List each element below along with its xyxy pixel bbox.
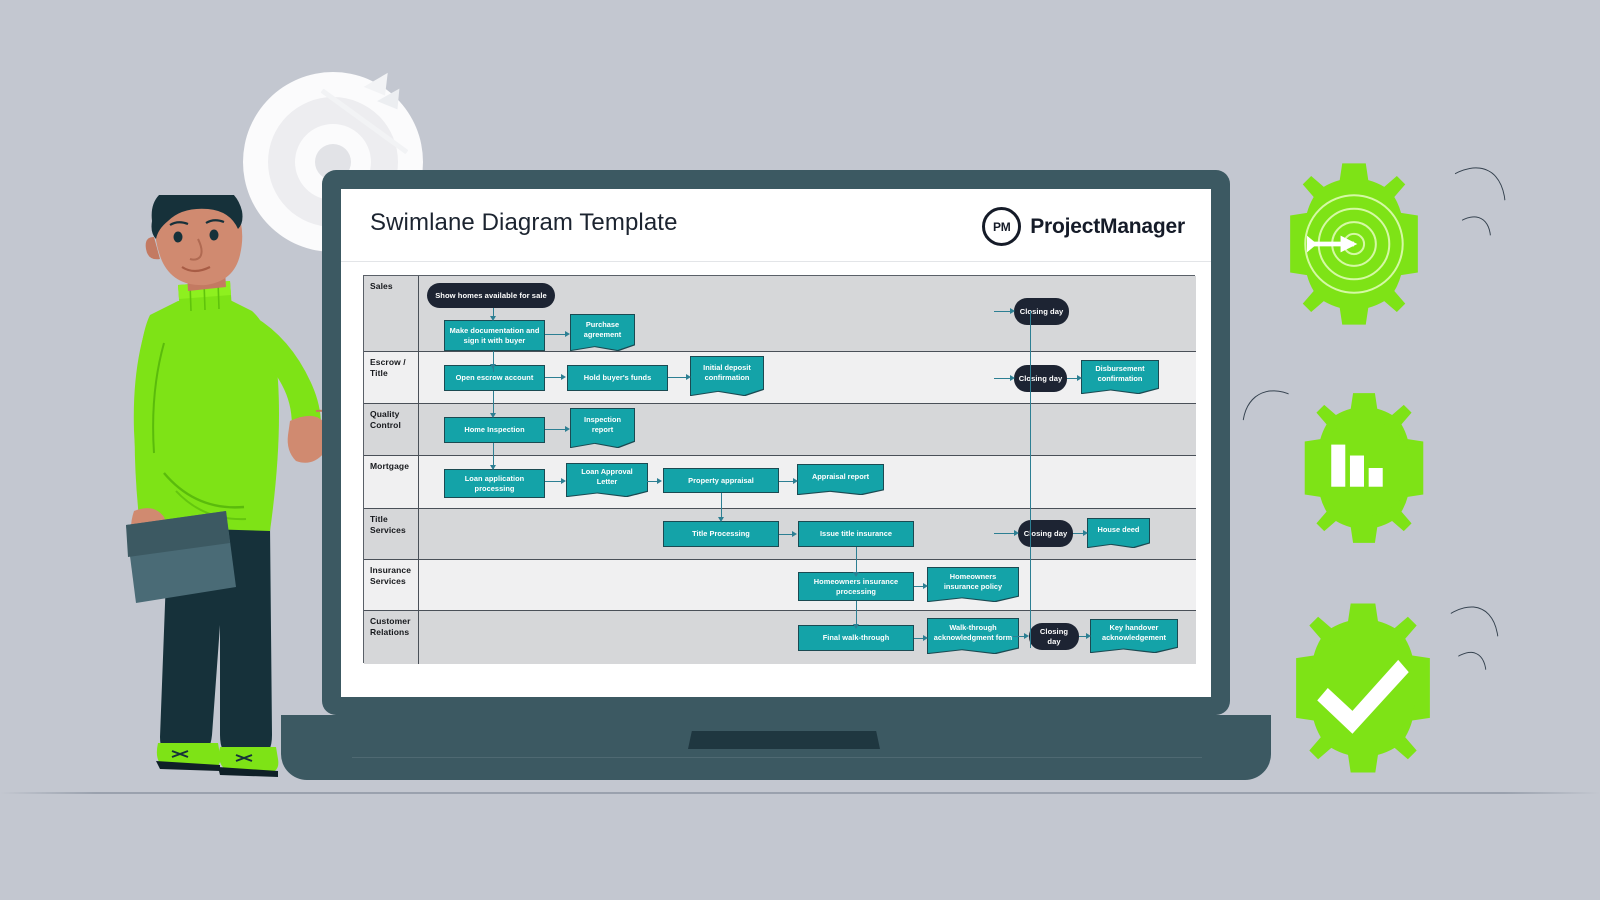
node-issue-title-insurance[interactable]: Issue title insurance bbox=[798, 521, 914, 547]
brand-name: ProjectManager bbox=[1030, 215, 1185, 239]
lane-label-escrow-title: Escrow /Title bbox=[364, 352, 419, 403]
arrowhead bbox=[792, 531, 797, 537]
arrowhead bbox=[1024, 633, 1029, 639]
lane-label-title-services: TitleServices bbox=[364, 509, 419, 559]
lane-mortgage: Mortgage Loan application processing Loa… bbox=[364, 456, 1196, 509]
person-illustration bbox=[120, 195, 350, 795]
document-header: Swimlane Diagram Template PM ProjectMana… bbox=[341, 189, 1211, 262]
pm-logo-icon: PM bbox=[982, 207, 1021, 246]
laptop-screen: Swimlane Diagram Template PM ProjectMana… bbox=[341, 189, 1211, 697]
lane-quality-control: QualityControl Home Inspection Inspectio… bbox=[364, 404, 1196, 456]
node-house-deed[interactable]: House deed bbox=[1088, 519, 1149, 547]
laptop-trackpad-notch bbox=[688, 731, 880, 749]
arrowhead bbox=[490, 364, 496, 369]
lane-label-quality-control: QualityControl bbox=[364, 404, 419, 455]
arrowhead bbox=[718, 517, 724, 522]
node-purchase-agreement[interactable]: Purchase agreement bbox=[571, 315, 634, 350]
arrowhead bbox=[561, 374, 566, 380]
node-show-homes[interactable]: Show homes available for sale bbox=[427, 283, 555, 308]
node-hold-buyers-funds[interactable]: Hold buyer's funds bbox=[567, 365, 668, 391]
lane-body-mortgage: Loan application processing Loan Approva… bbox=[419, 456, 1196, 508]
arrowhead bbox=[561, 478, 566, 484]
arrowhead bbox=[1086, 633, 1091, 639]
node-property-appraisal[interactable]: Property appraisal bbox=[663, 468, 779, 493]
lane-body-quality-control: Home Inspection Inspection report bbox=[419, 404, 1196, 455]
arrowhead bbox=[657, 478, 662, 484]
node-title-processing[interactable]: Title Processing bbox=[663, 521, 779, 547]
connector bbox=[994, 311, 1011, 312]
arrowhead bbox=[923, 635, 928, 641]
arrowhead bbox=[1010, 375, 1015, 381]
connector bbox=[545, 429, 565, 430]
connector bbox=[1013, 636, 1024, 637]
lane-escrow-title: Escrow /Title Open escrow account Hold b… bbox=[364, 352, 1196, 404]
connector bbox=[779, 534, 792, 535]
page-title: Swimlane Diagram Template bbox=[370, 209, 678, 237]
lane-insurance-services: InsuranceServices Homeowners insurance p… bbox=[364, 560, 1196, 611]
arrowhead bbox=[853, 572, 859, 577]
lane-sales: Sales Show homes available for sale Make… bbox=[364, 276, 1196, 352]
arrowhead bbox=[1077, 375, 1082, 381]
node-closing-day-escrow[interactable]: Closing day bbox=[1014, 365, 1067, 392]
node-homeowners-insurance-policy[interactable]: Homeowners insurance policy bbox=[928, 568, 1018, 601]
node-initial-deposit-confirmation[interactable]: Initial deposit confirmation bbox=[691, 357, 763, 395]
lane-body-title-services: Title Processing Issue title insurance C… bbox=[419, 509, 1196, 559]
node-inspection-report[interactable]: Inspection report bbox=[571, 409, 634, 447]
connector bbox=[1079, 636, 1086, 637]
node-disbursement-confirmation[interactable]: Disbursement confirmation bbox=[1082, 361, 1158, 393]
lane-label-customer-relations: CustomerRelations bbox=[364, 611, 419, 664]
connector bbox=[668, 377, 686, 378]
arrowhead bbox=[853, 624, 859, 629]
connector bbox=[545, 334, 565, 335]
connector-closing-day-trunk bbox=[1030, 311, 1031, 648]
connector-spine bbox=[721, 493, 722, 520]
arrowhead bbox=[565, 331, 570, 337]
brand-logo: PM ProjectManager bbox=[982, 207, 1185, 246]
lane-body-customer-relations: Final walk-through Walk-through acknowle… bbox=[419, 611, 1196, 664]
node-key-handover-acknowledgement[interactable]: Key handover acknowledgement bbox=[1091, 620, 1177, 652]
arrowhead bbox=[923, 583, 928, 589]
arrowhead bbox=[490, 413, 496, 418]
lane-body-escrow-title: Open escrow account Hold buyer's funds I… bbox=[419, 352, 1196, 403]
connector bbox=[994, 533, 1014, 534]
node-make-documentation[interactable]: Make documentation and sign it with buye… bbox=[444, 320, 545, 351]
arrowhead bbox=[565, 426, 570, 432]
scene: Swimlane Diagram Template PM ProjectMana… bbox=[0, 0, 1600, 900]
connector bbox=[914, 586, 923, 587]
node-closing-day-sales[interactable]: Closing day bbox=[1014, 298, 1069, 325]
arrowhead bbox=[1014, 530, 1019, 536]
node-walk-through-acknowledgment-form[interactable]: Walk-through acknowledgment form bbox=[928, 619, 1018, 653]
arrowhead bbox=[686, 374, 691, 380]
arrowhead bbox=[490, 316, 496, 321]
node-closing-day-customer[interactable]: Closing day bbox=[1029, 623, 1079, 650]
arrowhead bbox=[1083, 530, 1088, 536]
node-appraisal-report[interactable]: Appraisal report bbox=[798, 465, 883, 494]
connector bbox=[994, 378, 1010, 379]
lane-label-mortgage: Mortgage bbox=[364, 456, 419, 508]
arrowhead bbox=[490, 465, 496, 470]
connector bbox=[545, 377, 561, 378]
swimlane-diagram: Sales Show homes available for sale Make… bbox=[363, 275, 1195, 663]
lane-title-services: TitleServices Title Processing Issue tit… bbox=[364, 509, 1196, 560]
connector bbox=[779, 481, 793, 482]
connector bbox=[545, 481, 561, 482]
lane-body-sales: Show homes available for sale Make docum… bbox=[419, 276, 1196, 351]
arrowhead bbox=[1010, 308, 1015, 314]
lane-label-insurance-services: InsuranceServices bbox=[364, 560, 419, 610]
lane-customer-relations: CustomerRelations Final walk-through Wal… bbox=[364, 611, 1196, 664]
node-loan-approval-letter[interactable]: Loan Approval Letter bbox=[567, 464, 647, 496]
connector bbox=[914, 638, 923, 639]
lane-body-insurance-services: Homeowners insurance processing Homeowne… bbox=[419, 560, 1196, 610]
lane-label-sales: Sales bbox=[364, 276, 419, 351]
node-loan-application-processing[interactable]: Loan application processing bbox=[444, 469, 545, 498]
laptop-base-seam bbox=[352, 757, 1202, 758]
node-home-inspection[interactable]: Home Inspection bbox=[444, 417, 545, 443]
arrowhead bbox=[793, 478, 798, 484]
connector-spine bbox=[856, 547, 857, 575]
node-closing-day-title[interactable]: Closing day bbox=[1018, 520, 1073, 547]
